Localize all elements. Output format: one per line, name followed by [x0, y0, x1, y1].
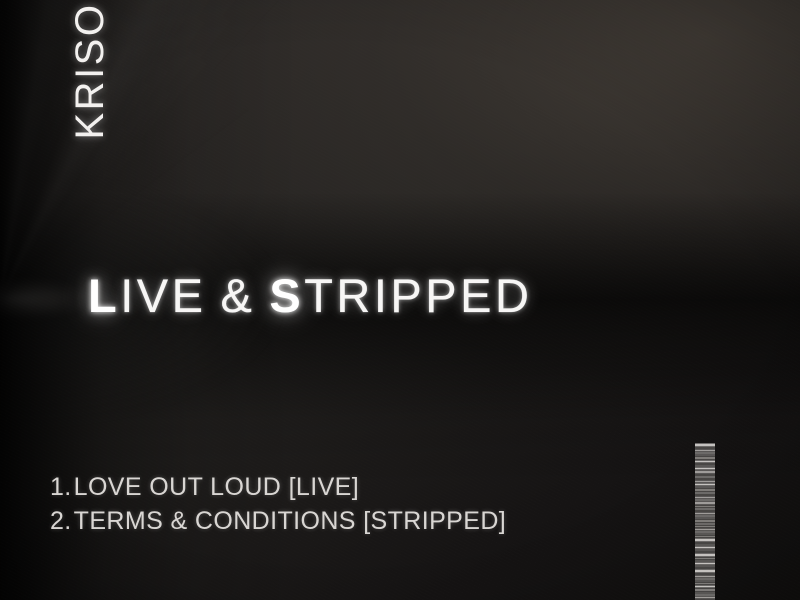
barcode-bar [695, 477, 715, 478]
barcode-bar [695, 574, 715, 575]
barcode-bar [695, 509, 715, 510]
artist-name: KRISO [70, 3, 110, 140]
barcode-bar [695, 597, 715, 599]
barcode-bar [695, 453, 715, 454]
track-number: 1. [50, 470, 72, 504]
track-row: 2.TERMS & CONDITIONS [STRIPPED] [50, 504, 506, 538]
barcode-bar [695, 589, 715, 592]
barcode-bar [695, 466, 715, 467]
barcode-bar [695, 500, 715, 501]
barcode-bar [695, 552, 715, 553]
barcode-bar [695, 583, 715, 585]
barcode-bar [695, 561, 715, 562]
barcode-bar [695, 487, 715, 488]
track-title: TERMS & CONDITIONS [STRIPPED] [74, 504, 506, 538]
barcode-bar [695, 461, 715, 463]
barcode-bar [695, 524, 715, 525]
barcode-bar [695, 558, 715, 560]
barcode-bar [695, 464, 715, 465]
barcode-bar [695, 484, 715, 486]
barcode-bar [695, 570, 715, 573]
barcode-bar [695, 471, 715, 474]
barcode-bar [695, 534, 715, 535]
barcode-bar [695, 495, 715, 496]
barcode-bar [695, 536, 715, 538]
barcode-bar [695, 457, 715, 460]
barcode-bar [695, 493, 715, 494]
barcode-bar [695, 489, 715, 492]
album-title-segment-5: S [269, 269, 304, 322]
barcode-bar [695, 543, 715, 544]
track-number: 2. [50, 504, 72, 538]
album-title-segment-3: & [220, 269, 255, 322]
album-title-segment-0: L [88, 269, 120, 322]
album-title-segment-6: TRIPPED [304, 269, 532, 322]
album-cover-artwork: KRISO LIVE&STRIPPED 1.LOVE OUT LOUD [LIV… [0, 0, 800, 600]
barcode-bar [695, 455, 715, 456]
barcode-bar [695, 468, 715, 470]
barcode-bar [695, 529, 715, 531]
barcode-bar [695, 545, 715, 546]
barcode-bar [695, 518, 715, 519]
barcode-bar [695, 550, 715, 551]
track-title: LOVE OUT LOUD [LIVE] [74, 470, 359, 504]
track-row: 1.LOVE OUT LOUD [LIVE] [50, 470, 506, 504]
barcode-bar [695, 497, 715, 499]
barcode-bar [695, 593, 715, 594]
barcode-bar [695, 581, 715, 582]
barcode-bar [695, 481, 715, 483]
tracklist: 1.LOVE OUT LOUD [LIVE]2.TERMS & CONDITIO… [50, 470, 506, 538]
barcode-bar [695, 516, 715, 517]
barcode-bar [695, 513, 715, 515]
barcode-bar [695, 475, 715, 476]
barcode-bar [695, 554, 715, 557]
barcode-bar [695, 568, 715, 569]
album-title-segment-1: IVE [120, 269, 206, 322]
barcode-bar [695, 520, 715, 523]
barcode-bar [695, 526, 715, 528]
barcode-bar [695, 450, 715, 452]
barcode-bar [695, 563, 715, 565]
barcode-bar [695, 579, 715, 580]
barcode-bar [695, 586, 715, 588]
barcode-bar [695, 539, 715, 542]
album-title: LIVE&STRIPPED [88, 272, 532, 319]
barcode-bar [695, 595, 715, 596]
barcode [695, 444, 715, 600]
album-title-text: LIVE&STRIPPED [88, 272, 532, 319]
barcode-bar [695, 576, 715, 578]
barcode-bar [695, 566, 715, 567]
barcode-bar [695, 479, 715, 480]
barcode-bar [695, 532, 715, 533]
barcode-bar [695, 502, 715, 505]
barcode-bar [695, 448, 715, 449]
barcode-bar [695, 511, 715, 512]
barcode-bar [695, 444, 715, 447]
barcode-bar [695, 506, 715, 508]
barcode-bar [695, 547, 715, 549]
